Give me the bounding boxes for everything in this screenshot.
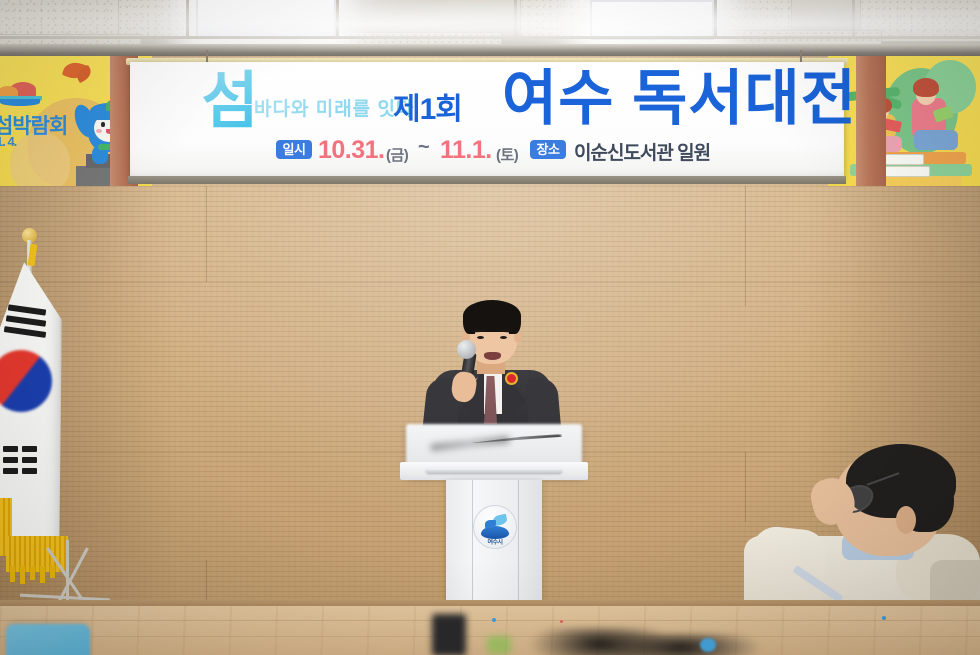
banner-edition: 제1회 bbox=[393, 84, 462, 128]
event-banner: 섬 바다와 미래를 잇다 제1회 여수 독서대전 일시 10.31. (금) ~… bbox=[130, 62, 844, 178]
date-label-pill: 일시 bbox=[276, 140, 312, 159]
date-value-1: 10.31. bbox=[318, 136, 385, 165]
banner-bottom-shadow bbox=[128, 176, 846, 184]
lapel-pin-badge bbox=[507, 374, 516, 383]
banner-subtitle: 바다와 미래를 잇다 bbox=[254, 94, 414, 121]
equipment-on-floor bbox=[432, 614, 466, 655]
emblem-label: 여수시 bbox=[474, 537, 516, 546]
island-expo-subtext: 1. 4. bbox=[0, 134, 16, 149]
blue-chair bbox=[6, 624, 90, 655]
photo-scene: 섬박람회 1. 4. bbox=[0, 0, 980, 655]
trigram-gon bbox=[3, 446, 18, 452]
date-day-2: (토) bbox=[496, 144, 518, 165]
place-label-pill: 장소 bbox=[530, 140, 566, 159]
foreground-blur-center bbox=[600, 634, 760, 655]
ceiling-light-1 bbox=[196, 0, 336, 38]
ceiling-light-2 bbox=[590, 0, 714, 40]
place-value: 이순신도서관 일원 bbox=[574, 138, 710, 165]
podium-handle-bar bbox=[426, 468, 562, 473]
date-day-1: (금) bbox=[386, 144, 408, 165]
island-expo-logo bbox=[0, 82, 48, 106]
right-pillar bbox=[856, 56, 886, 186]
microphone-head bbox=[457, 340, 476, 359]
speaker-mouth bbox=[484, 352, 501, 360]
banner-main-title: 여수 독서대전 bbox=[502, 68, 857, 130]
yeosu-city-emblem: 여수시 bbox=[473, 505, 517, 549]
date-value-2: 11.1. bbox=[440, 136, 492, 165]
date-tilde: ~ bbox=[418, 136, 429, 159]
